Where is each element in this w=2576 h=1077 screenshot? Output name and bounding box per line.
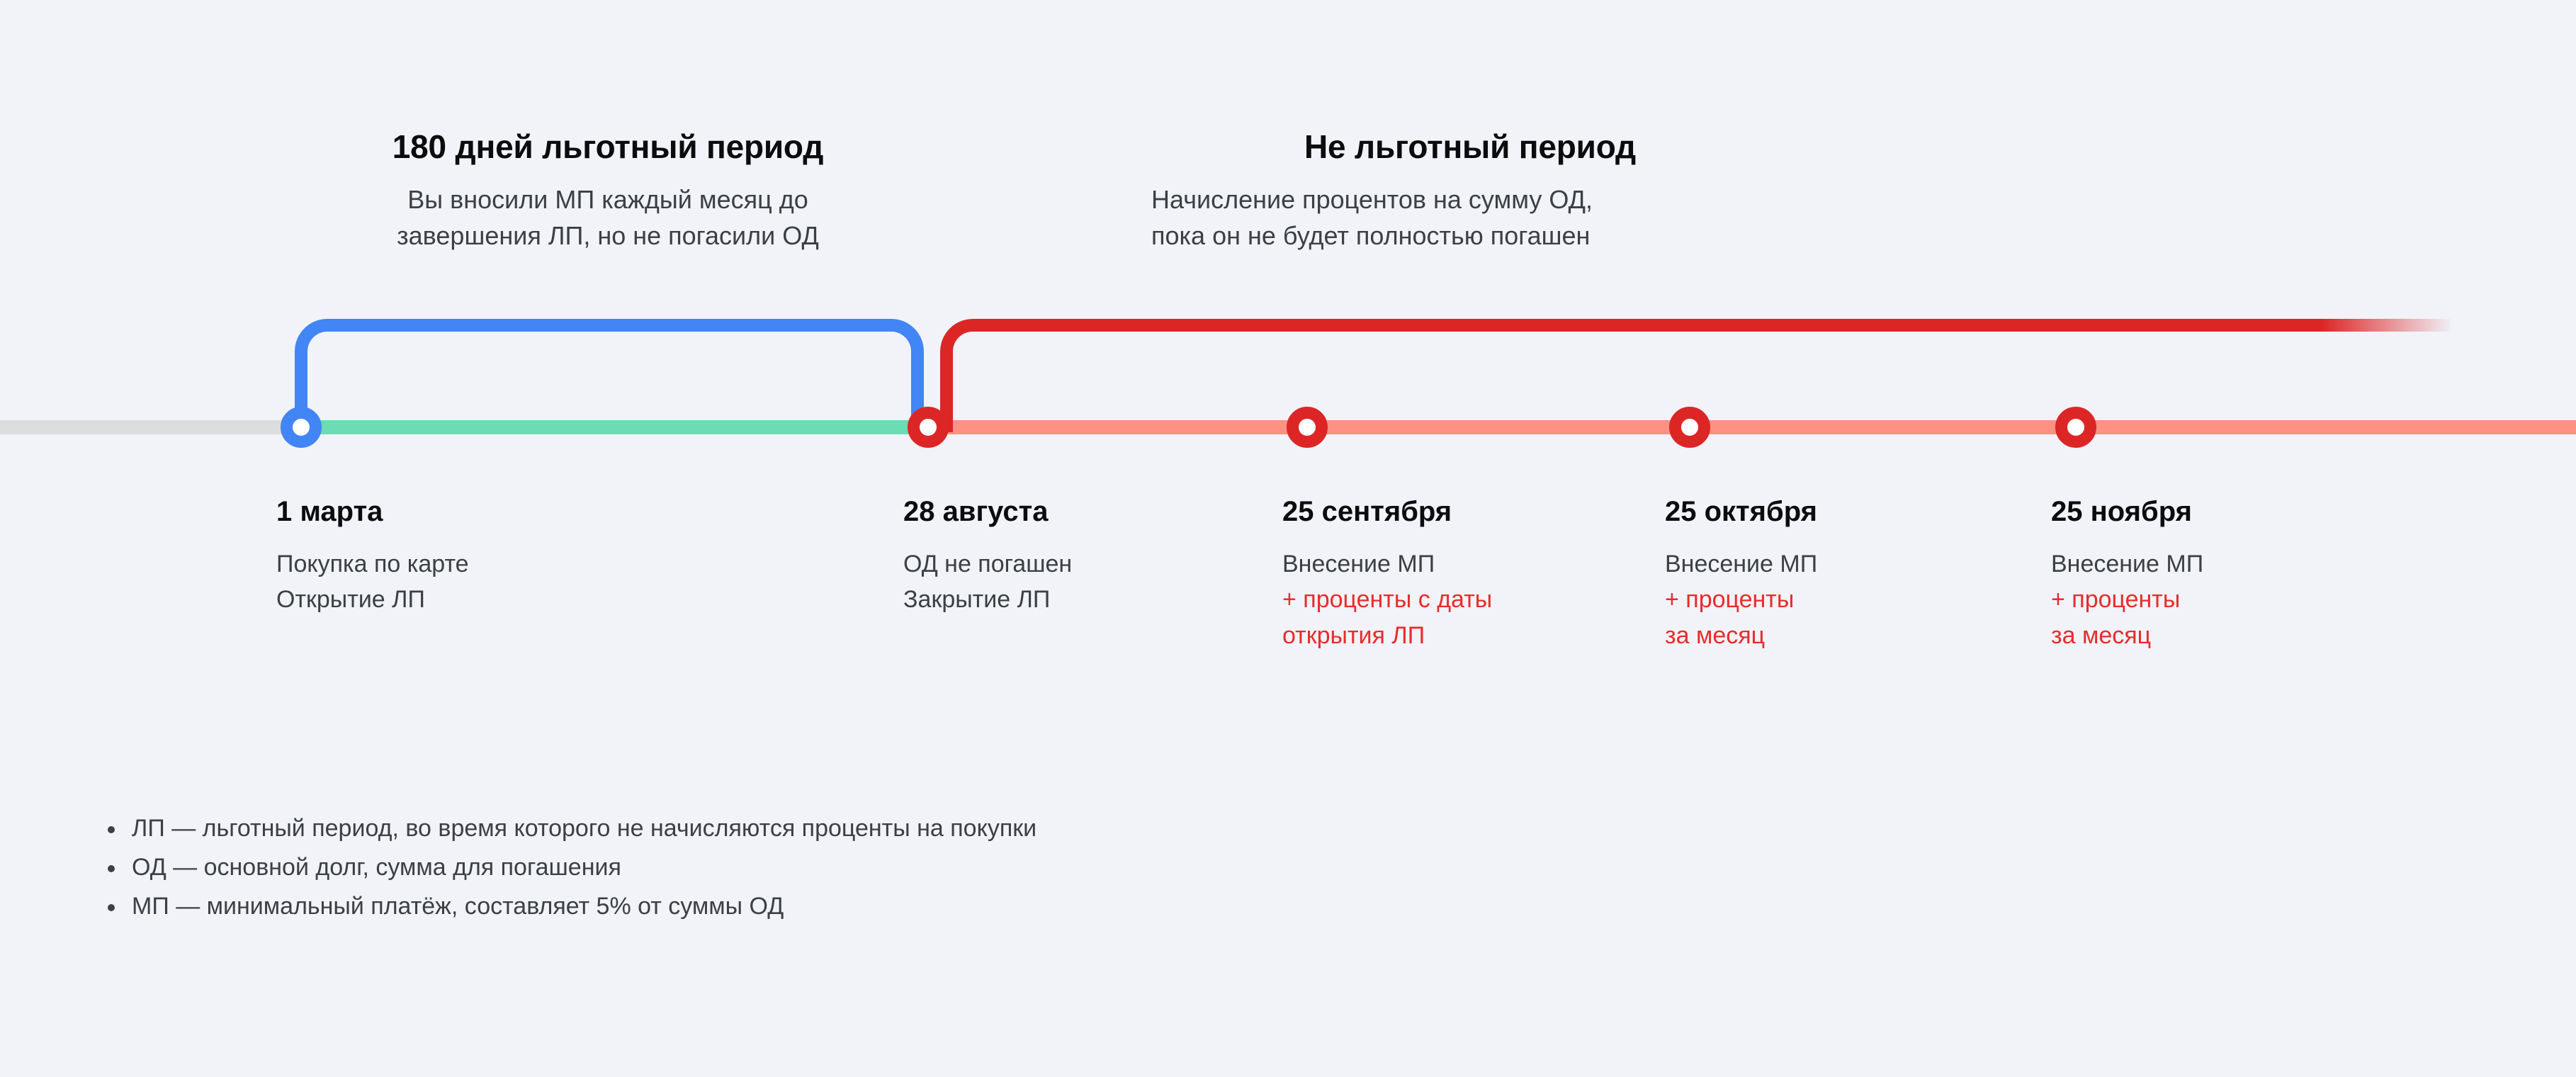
event-description: Внесение МП + проценты за месяц <box>1665 546 2019 653</box>
timeline-rail-before <box>0 420 306 434</box>
event-description: Покупка по карте Открытие ЛП <box>276 546 631 618</box>
timeline-marker-25-october[interactable] <box>1669 407 1710 448</box>
period-title-non-benefit: Не льготный период <box>1151 128 1789 166</box>
event-description: Внесение МП + проценты с даты открытия Л… <box>1282 546 1637 653</box>
timeline-marker-28-august[interactable] <box>908 407 949 448</box>
legend-item: ЛП — льготный период, во время которого … <box>132 809 1036 848</box>
legend-item: МП — минимальный платёж, составляет 5% о… <box>132 887 1036 926</box>
event-line-accent: + проценты за месяц <box>1665 582 2019 653</box>
legend-item: ОД — основной долг, сумма для погашения <box>132 848 1036 887</box>
period-header-non-benefit: Не льготный период Начисление процентов … <box>1151 128 1789 254</box>
event-date: 25 октября <box>1665 496 2019 528</box>
timeline-marker-25-november[interactable] <box>2055 407 2096 448</box>
event-25-september: 25 сентября Внесение МП + проценты с дат… <box>1282 496 1637 653</box>
period-header-benefit: 180 дней льготный период Вы вносили МП к… <box>282 128 934 254</box>
event-line: Покупка по карте <box>276 546 631 582</box>
bracket-benefit-period <box>295 319 924 432</box>
legend-list: ЛП — льготный период, во время которого … <box>94 809 1036 926</box>
event-1-march: 1 марта Покупка по карте Открытие ЛП <box>276 496 631 618</box>
event-line-accent: + проценты с даты открытия ЛП <box>1282 582 1637 653</box>
event-date: 25 сентября <box>1282 496 1637 528</box>
event-line: Закрытие ЛП <box>903 582 1258 617</box>
event-line: Внесение МП <box>1282 546 1637 582</box>
event-description: ОД не погашен Закрытие ЛП <box>903 546 1258 618</box>
event-line: Открытие ЛП <box>276 582 631 617</box>
event-description: Внесение МП + проценты за месяц <box>2051 546 2405 653</box>
event-28-august: 28 августа ОД не погашен Закрытие ЛП <box>903 496 1258 618</box>
event-date: 25 ноября <box>2051 496 2405 528</box>
event-line-accent: + проценты за месяц <box>2051 582 2405 653</box>
event-date: 1 марта <box>276 496 631 528</box>
event-line: Внесение МП <box>1665 546 2019 582</box>
timeline-infographic: 180 дней льготный период Вы вносили МП к… <box>0 0 2576 1077</box>
event-line: Внесение МП <box>2051 546 2405 582</box>
timeline-marker-25-september[interactable] <box>1287 407 1328 448</box>
event-date: 28 августа <box>903 496 1258 528</box>
period-subtitle-benefit: Вы вносили МП каждый месяц до завершения… <box>282 181 934 254</box>
event-25-october: 25 октября Внесение МП + проценты за мес… <box>1665 496 2019 653</box>
event-25-november: 25 ноября Внесение МП + проценты за меся… <box>2051 496 2405 653</box>
timeline-marker-1-march[interactable] <box>281 407 322 448</box>
period-subtitle-non-benefit: Начисление процентов на сумму ОД, пока о… <box>1151 181 1789 254</box>
event-line: ОД не погашен <box>903 546 1258 582</box>
period-title-benefit: 180 дней льготный период <box>282 128 934 166</box>
